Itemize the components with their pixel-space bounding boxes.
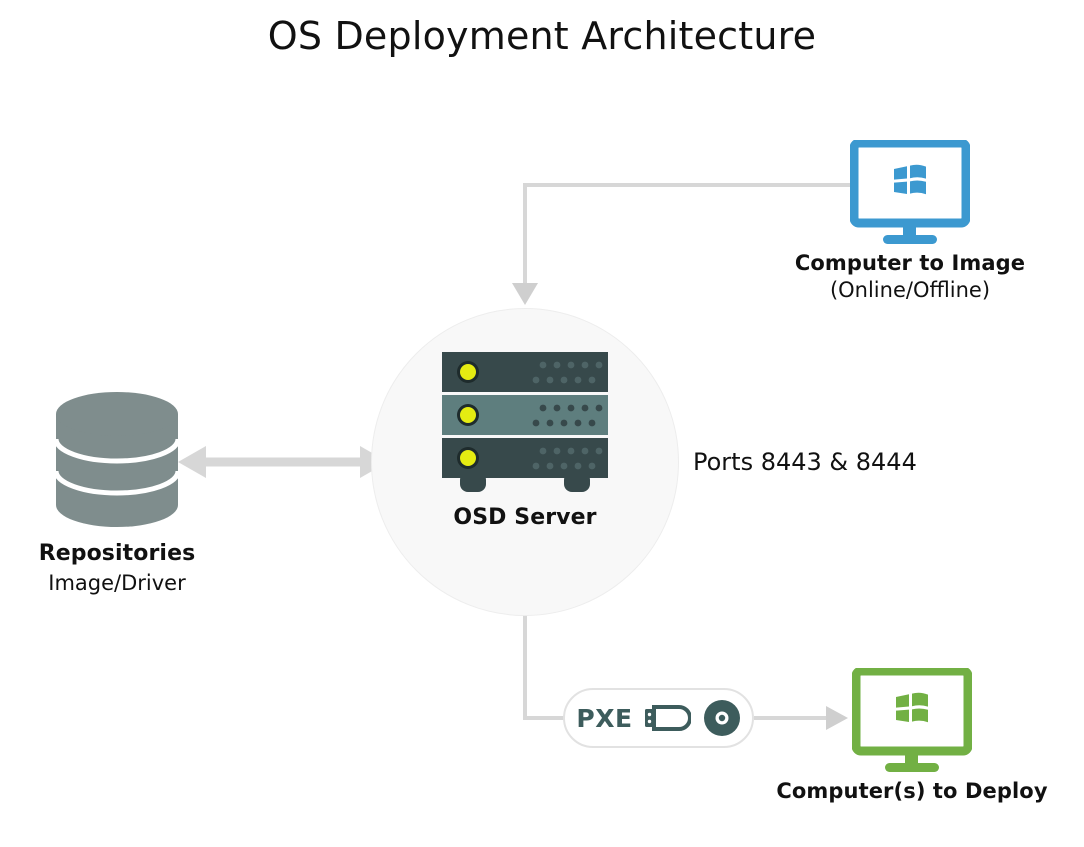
optical-disc-icon [703, 699, 741, 737]
optical-disc-icon-wrap [703, 699, 741, 737]
connector-server-to-pxe [525, 617, 563, 718]
node-computer-to-image[interactable]: Computer to Image (Online/Offline) [760, 140, 1060, 303]
diagram-canvas: OS Deployment Architecture [0, 0, 1084, 847]
pxe-label: PXE [576, 704, 632, 733]
windows-monitor-icon [852, 668, 972, 773]
osd-server-title: OSD Server [424, 505, 626, 531]
database-cylinder-icon [52, 392, 182, 527]
node-osd-server[interactable]: OSD Server [424, 352, 626, 531]
computers-to-deploy-caption: Computer(s) to Deploy [762, 779, 1062, 804]
node-computers-to-deploy[interactable]: Computer(s) to Deploy [762, 668, 1062, 804]
ports-label: Ports 8443 & 8444 [693, 448, 917, 476]
osd-server-caption: OSD Server [424, 505, 626, 531]
database-icon-wrap [14, 392, 220, 527]
usb-drive-icon [645, 705, 691, 731]
windows-monitor-icon [850, 140, 970, 245]
repositories-caption: Repositories Image/Driver [14, 541, 220, 597]
computers-to-deploy-title: Computer(s) to Deploy [762, 779, 1062, 804]
node-repositories[interactable]: Repositories Image/Driver [14, 392, 220, 597]
server-rack-icon [442, 352, 608, 497]
computer-to-image-subtitle: (Online/Offline) [760, 278, 1060, 303]
server-icon-wrap [424, 352, 626, 497]
repositories-subtitle: Image/Driver [14, 571, 220, 596]
blue-monitor-icon-wrap [760, 140, 1060, 245]
usb-drive-icon-wrap [645, 705, 691, 731]
green-monitor-icon-wrap [762, 668, 1062, 773]
pxe-badge[interactable]: PXE [563, 688, 754, 748]
repositories-title: Repositories [14, 541, 220, 567]
computer-to-image-caption: Computer to Image (Online/Offline) [760, 251, 1060, 303]
computer-to-image-title: Computer to Image [760, 251, 1060, 276]
